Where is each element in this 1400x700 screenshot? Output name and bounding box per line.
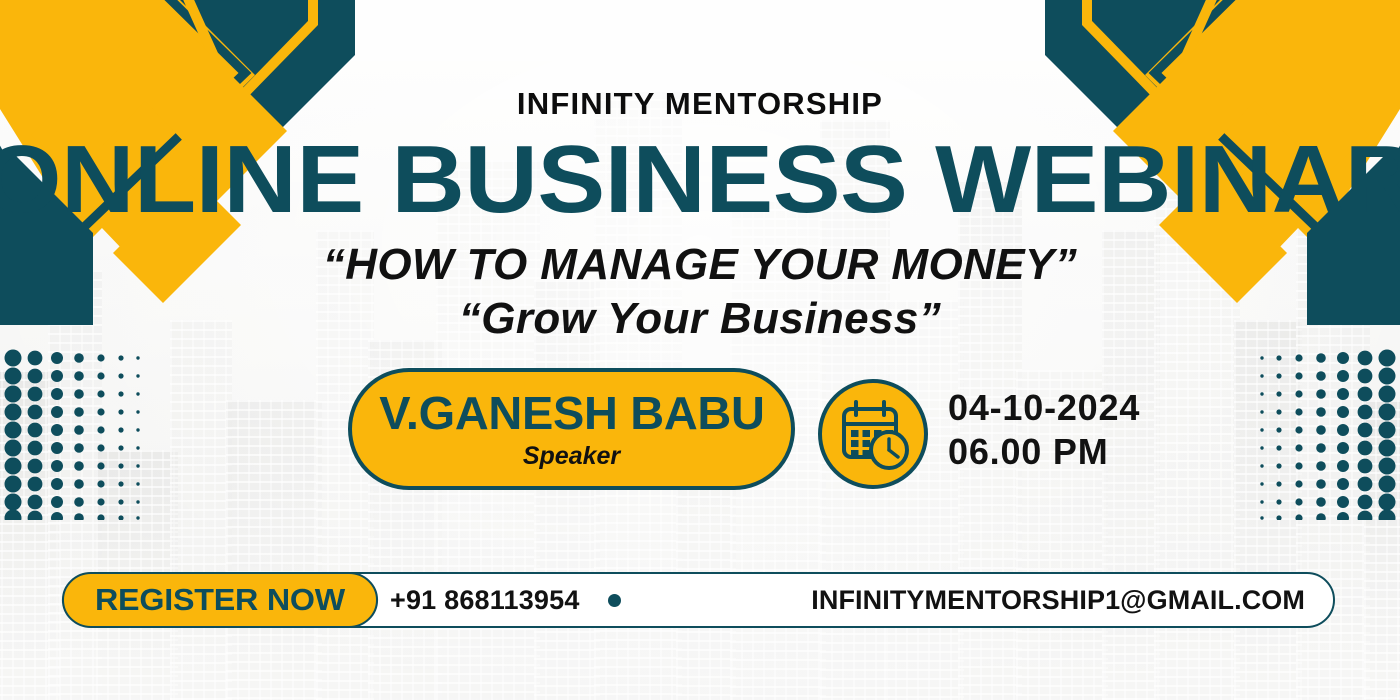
event-datetime: 04-10-2024 06.00 PM: [948, 388, 1140, 473]
webinar-poster: INFINITY MENTORSHIP ONLINE BUSINESS WEBI…: [0, 0, 1400, 700]
contact-bar: REGISTER NOW +91 868113954 INFINITYMENTO…: [68, 572, 1335, 628]
contact-email[interactable]: INFINITYMENTORSHIP1@GMAIL.COM: [811, 585, 1305, 616]
subtitle-secondary: “Grow Your Business”: [0, 294, 1400, 344]
event-date: 04-10-2024: [948, 388, 1140, 428]
subtitle-primary: “HOW TO MANAGE YOUR MONEY”: [0, 240, 1400, 290]
organization-name: INFINITY MENTORSHIP: [0, 86, 1400, 122]
register-now-button[interactable]: REGISTER NOW: [61, 572, 377, 628]
page-title: ONLINE BUSINESS WEBINAR: [0, 132, 1400, 228]
poster-content: INFINITY MENTORSHIP ONLINE BUSINESS WEBI…: [0, 0, 1400, 700]
event-time: 06.00 PM: [948, 432, 1140, 472]
speaker-name: V.GANESH BABU: [379, 390, 764, 436]
speaker-role: Speaker: [523, 444, 620, 469]
contact-phone[interactable]: +91 868113954: [390, 585, 580, 616]
calendar-clock-icon: [818, 379, 928, 489]
bullet-dot-icon: [608, 594, 621, 607]
speaker-card: V.GANESH BABU Speaker: [348, 368, 795, 490]
